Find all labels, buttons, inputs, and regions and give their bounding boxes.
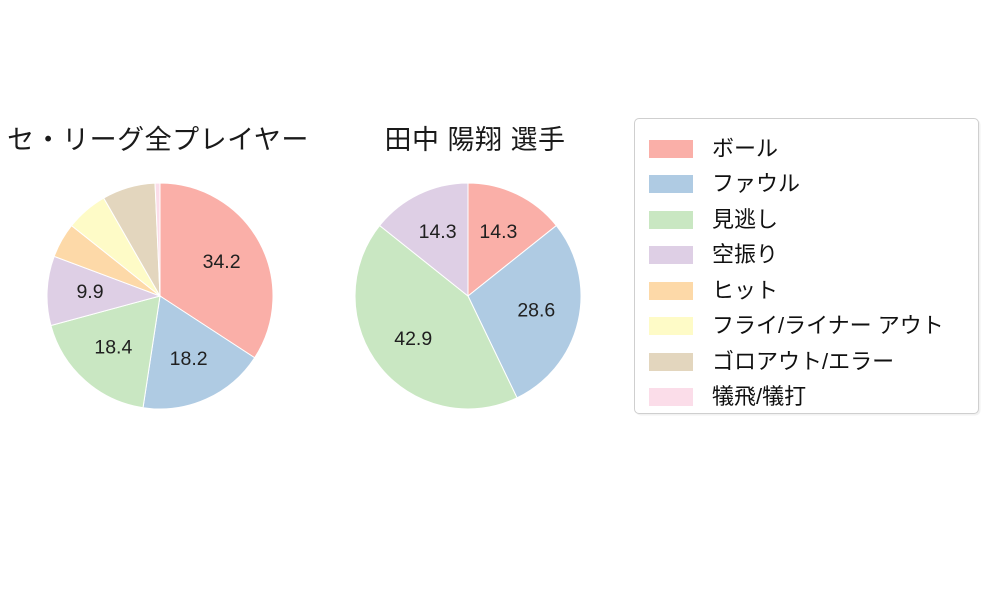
league-average-chart-panel: セ・リーグ全プレイヤー 34.218.218.49.9 (0, 100, 320, 420)
right-pie-chart: 14.328.642.914.3 (354, 182, 582, 410)
legend-item-label: 見逃し (712, 209, 778, 231)
legend-swatch-icon (649, 388, 693, 406)
legend-item-label: ファウル (712, 173, 800, 195)
pie-slice-value-label: 14.3 (419, 221, 457, 243)
legend-item[interactable]: ボール (649, 131, 968, 167)
legend-item[interactable]: ヒット (649, 273, 968, 309)
legend-swatch-icon (649, 282, 693, 300)
pie-slice-value-label: 9.9 (76, 281, 103, 303)
legend-item-label: フライ/ライナー アウト (712, 315, 944, 337)
legend-item[interactable]: ゴロアウト/エラー (649, 344, 968, 380)
legend-item[interactable]: 見逃し (649, 202, 968, 238)
left-chart-title: セ・リーグ全プレイヤー (0, 118, 318, 157)
pitch-result-pie-chart-page: セ・リーグ全プレイヤー 34.218.218.49.9 田中 陽翔 選手 14.… (0, 0, 1000, 600)
pie-slice-value-label: 18.4 (94, 336, 132, 358)
player-chart-panel: 田中 陽翔 選手 14.328.642.914.3 (330, 100, 620, 420)
pie-slice-value-label: 42.9 (394, 328, 432, 350)
legend-item-label: ゴロアウト/エラー (712, 351, 894, 373)
legend-item[interactable]: 空振り (649, 238, 968, 274)
legend-swatch-icon (649, 211, 693, 229)
left-pie-svg: 34.218.218.49.9 (46, 182, 274, 410)
pie-slice-value-label: 34.2 (203, 251, 241, 273)
legend-swatch-icon (649, 175, 693, 193)
legend-item[interactable]: 犠飛/犠打 (649, 380, 968, 416)
legend-item-label: 犠飛/犠打 (712, 386, 806, 408)
legend-item-label: ボール (712, 138, 778, 160)
left-pie-chart: 34.218.218.49.9 (46, 182, 274, 410)
legend-swatch-icon (649, 140, 693, 158)
pie-slice-value-label: 28.6 (517, 300, 555, 322)
legend-item-label: ヒット (712, 280, 778, 302)
legend: ボール ファウル 見逃し 空振り ヒット フライ/ライナー アウト ゴロアウト/… (634, 118, 979, 414)
pie-slice-value-label: 18.2 (170, 348, 208, 370)
right-chart-title: 田中 陽翔 選手 (330, 118, 620, 157)
right-pie-svg: 14.328.642.914.3 (354, 182, 582, 410)
legend-item[interactable]: フライ/ライナー アウト (649, 309, 968, 345)
legend-item-label: 空振り (712, 244, 778, 266)
legend-swatch-icon (649, 317, 693, 335)
pie-slice-value-label: 14.3 (479, 221, 517, 243)
legend-swatch-icon (649, 353, 693, 371)
legend-swatch-icon (649, 246, 693, 264)
legend-item[interactable]: ファウル (649, 167, 968, 203)
